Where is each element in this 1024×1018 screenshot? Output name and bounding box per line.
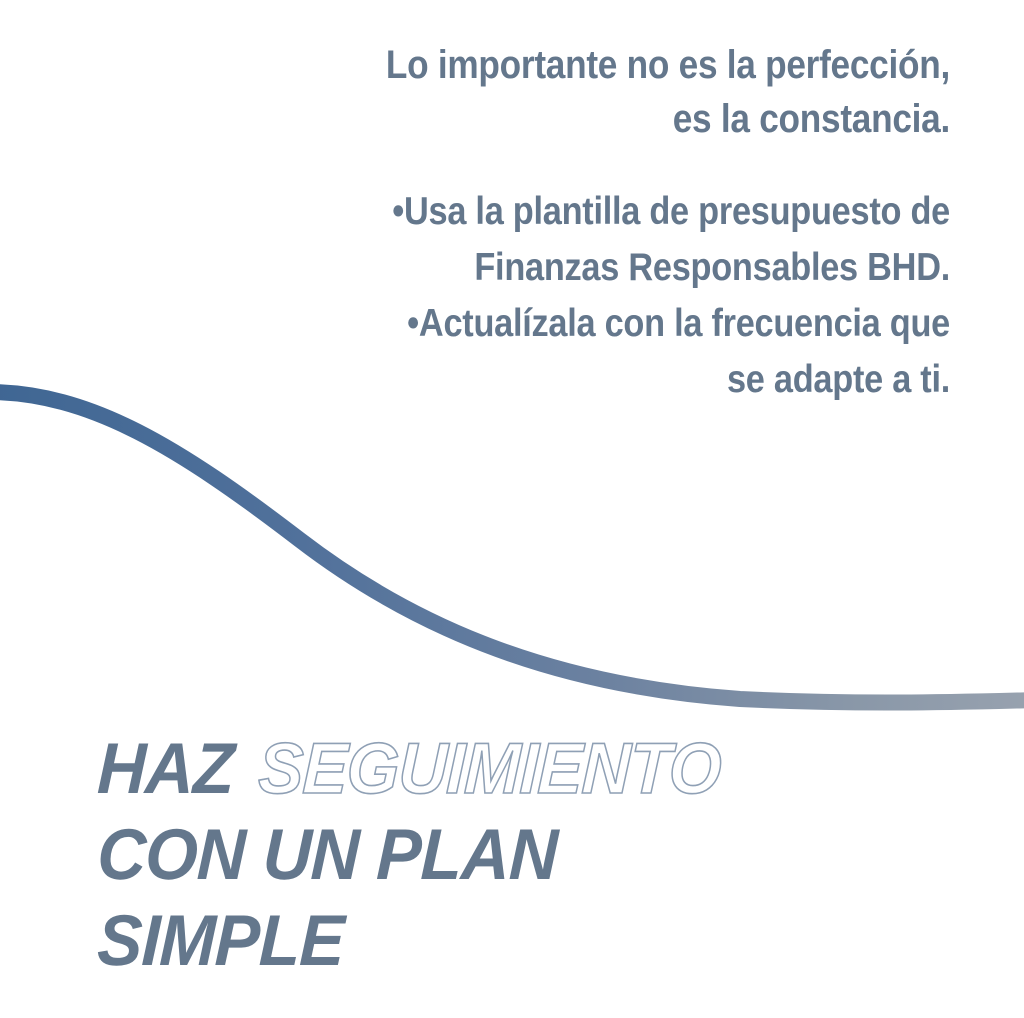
display-row-3: SIMPLE xyxy=(96,898,749,984)
display-row-1: HAZSEGUIMIENTO xyxy=(96,726,749,812)
bullet-line-3: •Actualízala con la frecuencia que xyxy=(237,296,950,352)
display-headline-block: HAZSEGUIMIENTO CON UN PLAN SIMPLE xyxy=(96,726,749,984)
bullet-line-2: Finanzas Responsables BHD. xyxy=(237,240,950,296)
copy-block: Lo importante no es la perfección, es la… xyxy=(140,38,950,408)
display-word-haz: HAZ xyxy=(96,726,235,812)
display-word-con-un-plan: CON UN PLAN xyxy=(96,812,558,898)
poster-canvas: Lo importante no es la perfección, es la… xyxy=(0,0,1024,1018)
wave-path xyxy=(0,392,1024,703)
headline-line-1: Lo importante no es la perfección, xyxy=(237,38,950,92)
headline-line-2: es la constancia. xyxy=(237,92,950,146)
headline-group: Lo importante no es la perfección, es la… xyxy=(140,38,950,146)
display-word-simple: SIMPLE xyxy=(96,898,345,984)
display-row-2: CON UN PLAN xyxy=(96,812,749,898)
display-word-seguimiento: SEGUIMIENTO xyxy=(257,726,722,812)
bullet-line-4: se adapte a ti. xyxy=(237,352,950,408)
bullet-list: •Usa la plantilla de presupuesto de Fina… xyxy=(140,184,950,408)
bullet-line-1: •Usa la plantilla de presupuesto de xyxy=(237,184,950,240)
